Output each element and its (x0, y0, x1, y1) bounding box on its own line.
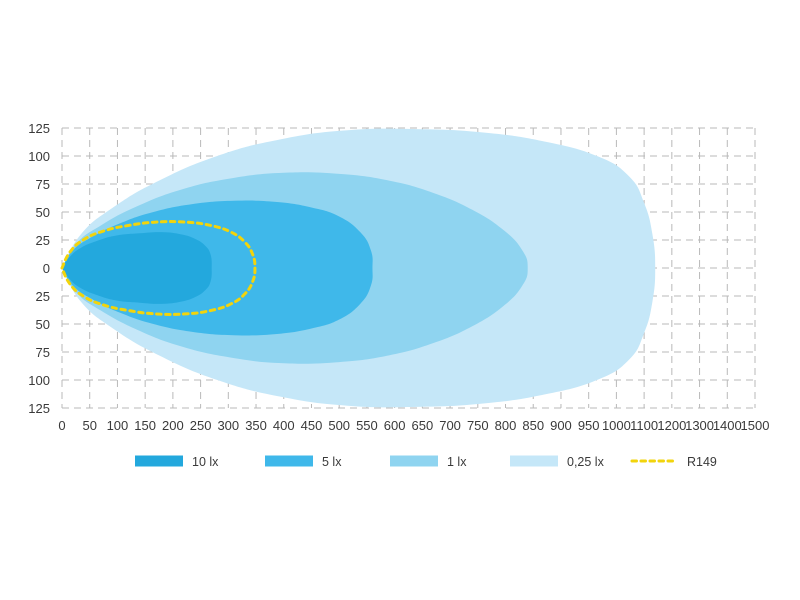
x-tick-label: 1100 (630, 418, 658, 433)
y-axis-tick-labels: 1251007550250255075100125 (28, 121, 50, 416)
legend-label: 10 lx (192, 455, 219, 469)
y-tick-label: 0 (43, 261, 50, 276)
x-tick-label: 1200 (657, 418, 686, 433)
y-tick-label: 125 (28, 401, 50, 416)
legend-item-5-lx: 5 lx (265, 455, 342, 469)
x-tick-label: 400 (273, 418, 295, 433)
y-tick-label: 125 (28, 121, 50, 136)
x-tick-label: 350 (245, 418, 267, 433)
y-tick-label: 75 (36, 345, 50, 360)
x-axis-tick-labels: 0501001502002503003504004505005506006507… (58, 418, 769, 433)
legend-item-r149: R149 (632, 455, 717, 469)
x-tick-label: 800 (495, 418, 517, 433)
x-tick-label: 650 (412, 418, 434, 433)
x-tick-label: 100 (107, 418, 129, 433)
legend-swatch (135, 456, 183, 467)
x-tick-label: 600 (384, 418, 406, 433)
legend-label: 0,25 lx (567, 455, 605, 469)
x-tick-label: 1400 (713, 418, 742, 433)
x-tick-label: 750 (467, 418, 489, 433)
legend-label: 1 lx (447, 455, 467, 469)
x-tick-label: 150 (134, 418, 156, 433)
y-tick-label: 100 (28, 373, 50, 388)
x-tick-label: 0 (58, 418, 65, 433)
x-tick-label: 500 (328, 418, 350, 433)
y-tick-label: 100 (28, 149, 50, 164)
legend-swatch (390, 456, 438, 467)
x-tick-label: 850 (522, 418, 544, 433)
x-tick-label: 1000 (602, 418, 631, 433)
x-tick-label: 950 (578, 418, 600, 433)
x-tick-label: 200 (162, 418, 184, 433)
y-tick-label: 50 (36, 317, 50, 332)
x-tick-label: 1300 (685, 418, 714, 433)
x-tick-label: 250 (190, 418, 212, 433)
legend-item-10-lx: 10 lx (135, 455, 219, 469)
chart-canvas: 0501001502002503003504004505005506006507… (0, 0, 800, 600)
x-tick-label: 1500 (741, 418, 770, 433)
light-distribution-chart: 0501001502002503003504004505005506006507… (0, 0, 800, 600)
legend-label: R149 (687, 455, 717, 469)
y-tick-label: 25 (36, 289, 50, 304)
y-tick-label: 75 (36, 177, 50, 192)
y-tick-label: 25 (36, 233, 50, 248)
x-tick-label: 450 (301, 418, 323, 433)
legend-item-1-lx: 1 lx (390, 455, 467, 469)
x-tick-label: 550 (356, 418, 378, 433)
y-tick-label: 50 (36, 205, 50, 220)
legend-swatch (265, 456, 313, 467)
legend-swatch (510, 456, 558, 467)
x-tick-label: 50 (82, 418, 96, 433)
x-tick-label: 700 (439, 418, 461, 433)
x-tick-label: 900 (550, 418, 572, 433)
legend-item-0-25-lx: 0,25 lx (510, 455, 605, 469)
chart-legend: 10 lx5 lx1 lx0,25 lxR149 (135, 455, 717, 469)
x-tick-label: 300 (217, 418, 239, 433)
beam-areas (62, 129, 655, 408)
legend-label: 5 lx (322, 455, 342, 469)
